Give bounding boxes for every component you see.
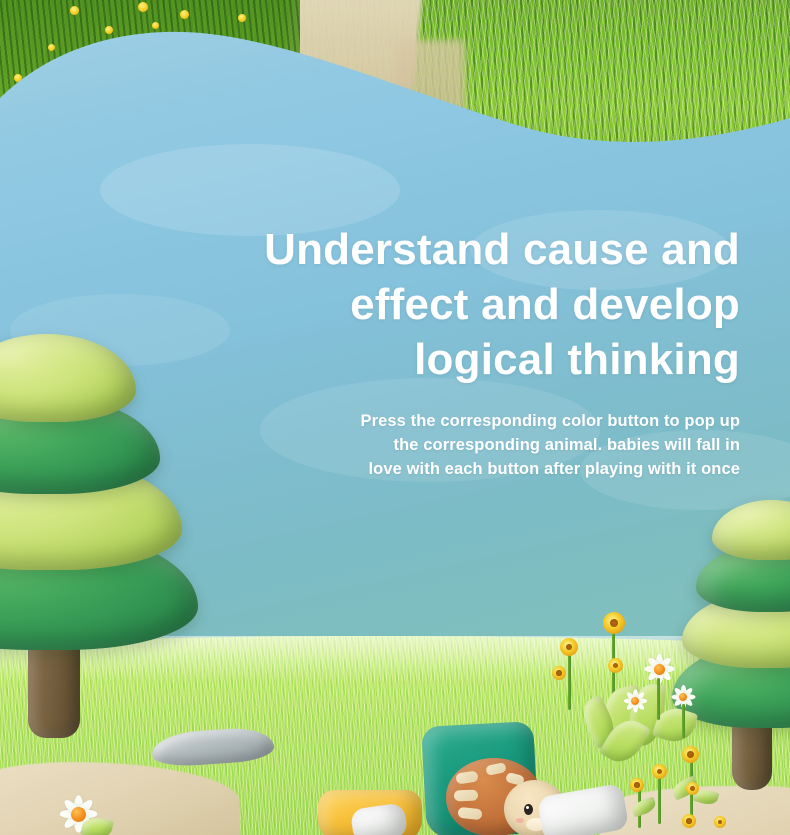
- body-copy: Press the corresponding color button to …: [150, 409, 740, 481]
- bottom-right-sunflower-patch: [618, 742, 788, 835]
- product-feature-banner: Understand cause and effect and develop …: [0, 0, 790, 835]
- tree-tier-1: [0, 334, 136, 422]
- copy-block: Understand cause and effect and develop …: [150, 222, 740, 481]
- body-line-1: Press the corresponding color button to …: [150, 409, 740, 433]
- body-line-2: the corresponding animal. babies will fa…: [150, 433, 740, 457]
- page-title: Understand cause and effect and develop …: [150, 222, 740, 387]
- headline-line-2: effect and develop: [150, 277, 740, 332]
- daisy-flower-small: [622, 688, 648, 714]
- headline-line-3: logical thinking: [150, 332, 740, 387]
- headline-line-1: Understand cause and: [150, 222, 740, 277]
- tree-tier-right-1: [712, 500, 790, 560]
- body-line-3: love with each button after playing with…: [150, 457, 740, 481]
